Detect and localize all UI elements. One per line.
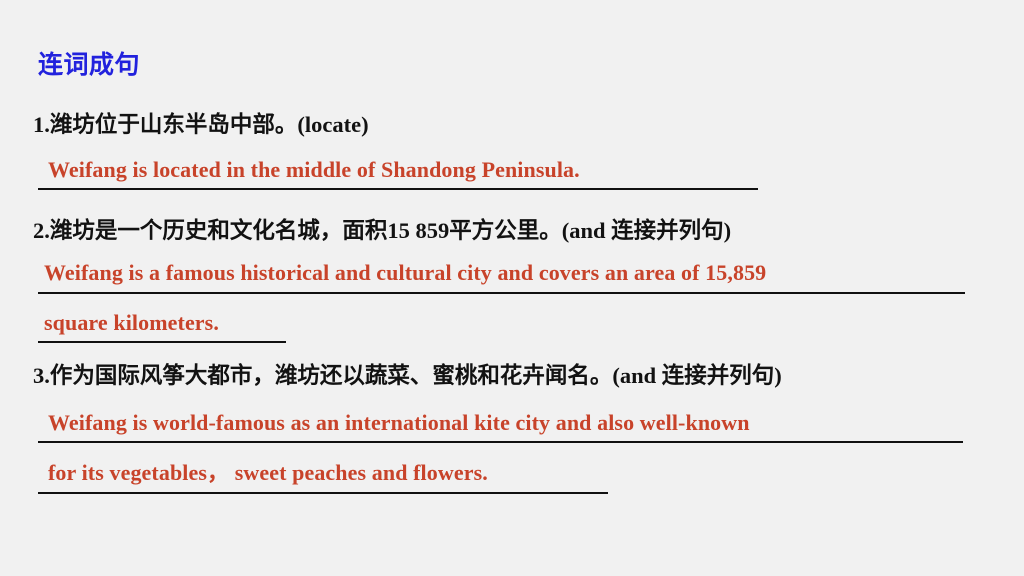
answer-rule-1-1 <box>38 188 758 190</box>
answer-line-1-1: Weifang is located in the middle of Shan… <box>48 158 580 182</box>
answer-rule-3-2 <box>38 492 608 494</box>
answer-line-2-2: square kilometers. <box>44 311 219 335</box>
answer-rule-2-1 <box>38 292 965 294</box>
slide-canvas: 连词成句 1.潍坊位于山东半岛中部。(locate) Weifang is lo… <box>0 0 1024 576</box>
question-prompt-2: 2.潍坊是一个历史和文化名城，面积15 859平方公里。(and 连接并列句) <box>33 218 731 244</box>
answer-line-2-1: Weifang is a famous historical and cultu… <box>44 261 766 285</box>
question-prompt-1: 1.潍坊位于山东半岛中部。(locate) <box>33 112 369 138</box>
answer-line-3-1: Weifang is world-famous as an internatio… <box>48 411 750 435</box>
answer-rule-3-1 <box>38 441 963 443</box>
question-prompt-3: 3.作为国际风筝大都市，潍坊还以蔬菜、蜜桃和花卉闻名。(and 连接并列句) <box>33 363 782 389</box>
answer-rule-2-2 <box>38 341 286 343</box>
answer-line-3-2: for its vegetables， sweet peaches and fl… <box>48 461 488 485</box>
section-title: 连词成句 <box>38 52 140 80</box>
